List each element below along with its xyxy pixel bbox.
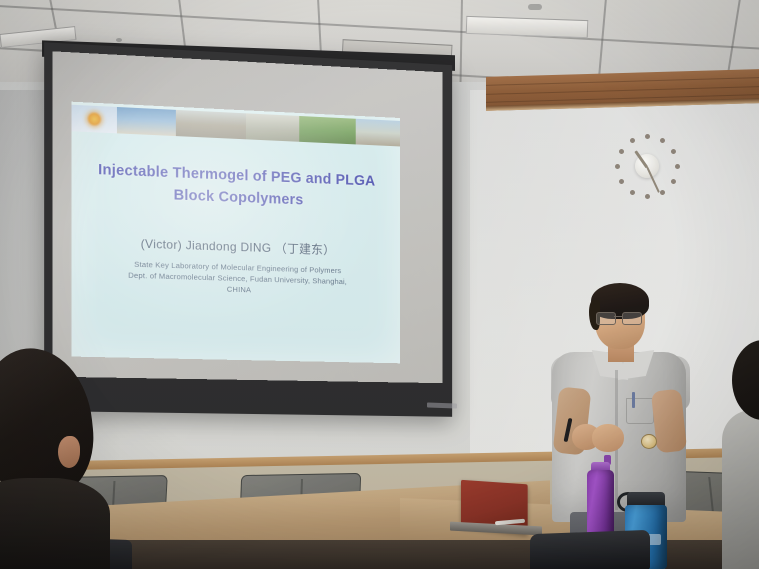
black-bag [530,530,650,569]
glasses-bridge [614,316,622,317]
presentation-slide: Injectable Thermogel of PEG and PLGA Blo… [72,102,400,364]
audience-member-shoulder [0,478,110,569]
wristwatch [641,434,657,449]
banner-photo [356,119,400,147]
ceiling-smoke-detector [528,4,542,10]
slide-title: Injectable Thermogel of PEG and PLGA Blo… [86,158,386,214]
glasses-icon [596,312,643,323]
university-seal-icon [72,105,117,134]
slide-author: (Victor) Jiandong DING （丁建东） [86,233,386,260]
shirt-pocket [626,398,654,424]
photo-scene: Injectable Thermogel of PEG and PLGA Blo… [0,0,759,569]
glasses-lens-left [596,312,616,325]
screen-brand-logo [427,402,457,408]
ceiling-sprinkler [116,38,122,42]
glasses-lens-right [622,312,642,325]
presenter-hand-right [592,424,624,452]
audience-member-body [722,410,759,569]
wall-clock [611,130,683,202]
slide-affiliation: State Key Laboratory of Molecular Engine… [86,257,386,299]
banner-photo [246,113,299,141]
banner-photo [176,110,246,139]
banner-photo [299,116,355,144]
audience-member-ear [58,436,80,468]
ceiling-light-fixture [466,16,589,38]
pocket-pen-icon [632,392,635,408]
banner-photo [117,107,176,136]
